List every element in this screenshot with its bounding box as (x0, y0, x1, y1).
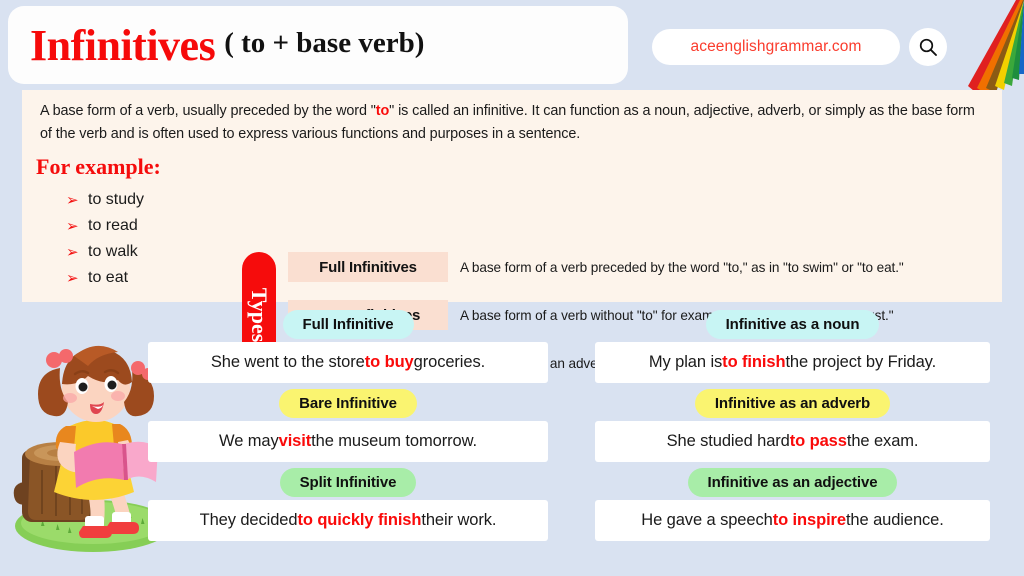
sentence-highlight: visit (279, 432, 312, 451)
example-group: Split Infinitive They decided to quickly… (148, 468, 548, 541)
sentence-highlight: to pass (790, 432, 847, 451)
list-item-label: to walk (88, 243, 138, 261)
example-group: Infinitive as an adverb She studied hard… (595, 389, 990, 462)
sentence-highlight: to inspire (773, 511, 846, 530)
list-item-label: to read (88, 217, 138, 235)
list-item-label: to study (88, 191, 144, 209)
sentence-before: He gave a speech (641, 511, 772, 530)
sentence-before: She went to the store (211, 353, 365, 372)
example-sentence: He gave a speech to inspire the audience… (595, 500, 990, 541)
sentence-before: She studied hard (667, 432, 790, 451)
infographic-page: Infinitives ( to + base verb) aceenglish… (0, 0, 1024, 576)
example-group: Infinitive as an adjective He gave a spe… (595, 468, 990, 541)
arrow-bullet-icon: ➢ (66, 217, 88, 235)
sentence-highlight: to quickly finish (297, 511, 421, 530)
list-item: ➢ to read (66, 214, 144, 238)
type-description: A base form of a verb preceded by the wo… (460, 252, 904, 282)
category-pill[interactable]: Infinitive as an adverb (695, 389, 890, 418)
category-pill[interactable]: Bare Infinitive (279, 389, 417, 418)
example-sentence: They decided to quickly finish their wor… (148, 500, 548, 541)
example-group: Infinitive as a noun My plan is to finis… (595, 310, 990, 383)
sentence-after: the exam. (847, 432, 919, 451)
type-name: Full Infinitives (288, 252, 448, 282)
example-list: ➢ to study ➢ to read ➢ to walk ➢ to eat (66, 188, 144, 292)
rainbow-fan-icon (944, 0, 1024, 100)
definition-text: A base form of a verb, usually preceded … (40, 100, 984, 147)
definition-part1: A base form of a verb, usually preceded … (40, 103, 376, 119)
sentence-after: the audience. (846, 511, 944, 530)
search-icon (918, 37, 938, 57)
category-pill[interactable]: Infinitive as a noun (706, 310, 880, 339)
sentence-before: My plan is (649, 353, 722, 372)
definition-highlight: to (376, 103, 389, 119)
site-url-pill[interactable]: aceenglishgrammar.com (652, 29, 900, 65)
title-card: Infinitives ( to + base verb) (8, 6, 628, 84)
sentence-after: their work. (421, 511, 496, 530)
search-button[interactable] (909, 28, 947, 66)
arrow-bullet-icon: ➢ (66, 243, 88, 261)
arrow-bullet-icon: ➢ (66, 269, 88, 287)
example-group: Full Infinitive She went to the store to… (148, 310, 548, 383)
sentence-after: the museum tomorrow. (311, 432, 477, 451)
sentence-highlight: to finish (722, 353, 785, 372)
list-item-label: to eat (88, 269, 128, 287)
category-pill[interactable]: Full Infinitive (283, 310, 414, 339)
arrow-bullet-icon: ➢ (66, 191, 88, 209)
list-item: ➢ to walk (66, 240, 144, 264)
list-item: ➢ to study (66, 188, 144, 212)
for-example-heading: For example: (36, 154, 161, 180)
example-sentence: She studied hard to pass the exam. (595, 421, 990, 462)
sentence-before: We may (219, 432, 279, 451)
sentence-before: They decided (200, 511, 298, 530)
example-sentence: She went to the store to buy groceries. (148, 342, 548, 383)
sentence-highlight: to buy (365, 353, 414, 372)
category-pill[interactable]: Infinitive as an adjective (688, 468, 898, 497)
sentence-after: groceries. (414, 353, 485, 372)
example-sentence: We may visit the museum tomorrow. (148, 421, 548, 462)
page-subtitle: ( to + base verb) (224, 27, 424, 63)
category-pill[interactable]: Split Infinitive (280, 468, 417, 497)
page-title: Infinitives (30, 20, 215, 71)
example-group: Bare Infinitive We may visit the museum … (148, 389, 548, 462)
right-examples-column: Infinitive as a noun My plan is to finis… (595, 310, 990, 547)
example-sentence: My plan is to finish the project by Frid… (595, 342, 990, 383)
left-examples-column: Full Infinitive She went to the store to… (148, 310, 548, 547)
sentence-after: the project by Friday. (785, 353, 936, 372)
definition-panel: A base form of a verb, usually preceded … (22, 90, 1002, 302)
list-item: ➢ to eat (66, 266, 144, 290)
